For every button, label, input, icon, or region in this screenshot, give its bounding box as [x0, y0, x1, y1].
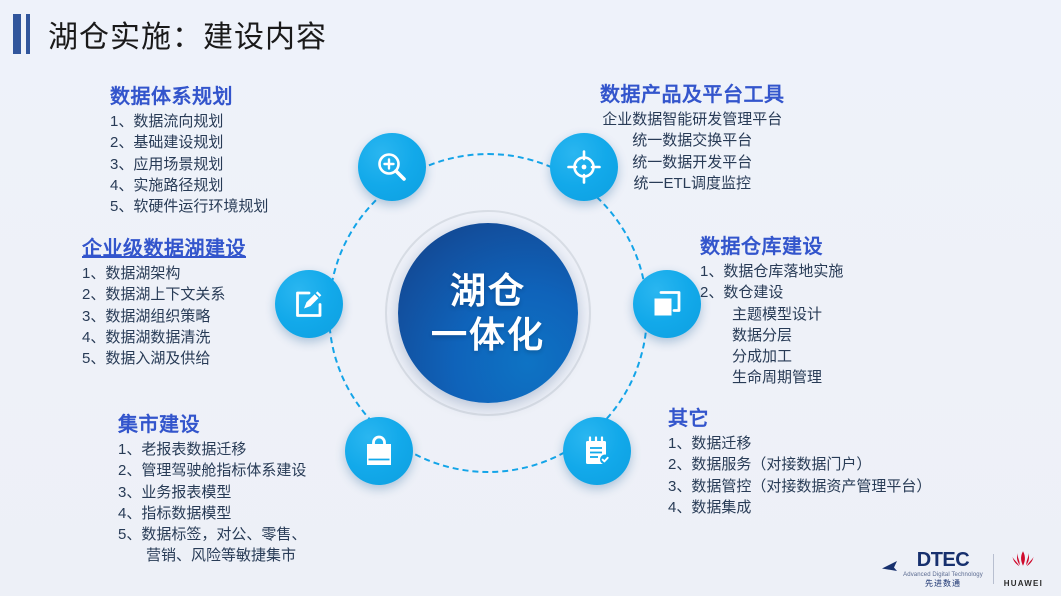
zoom-in-magnifier-icon: [374, 149, 410, 185]
node-data-mart[interactable]: [345, 417, 413, 485]
center-hub-line2: 一体化: [431, 313, 545, 357]
list-item: 统一ETL调度监控: [600, 173, 785, 194]
list-subitem: 主题模型设计: [700, 304, 843, 325]
huawei-flower-icon: [1006, 550, 1040, 577]
list-item: 2、基础建设规划: [110, 132, 268, 153]
footer-logos: DTEC Advanced Digital Technology 先进数通: [880, 550, 1043, 588]
list-item: 3、数据管控（对接数据资产管理平台）: [668, 476, 931, 497]
list-item: 4、实施路径规划: [110, 175, 268, 196]
list-item: 4、指标数据模型: [118, 503, 306, 524]
list-item: 企业数据智能研发管理平台: [600, 109, 785, 130]
dtec-tagline: Advanced Digital Technology: [903, 572, 983, 578]
block-heading: 企业级数据湖建设: [82, 232, 246, 261]
block-enterprise-data-lake: 企业级数据湖建设 1、数据湖架构 2、数据湖上下文关系 3、数据湖组织策略 4、…: [82, 232, 246, 369]
node-data-system-planning[interactable]: [358, 133, 426, 201]
list-item: 3、应用场景规划: [110, 154, 268, 175]
block-data-products-platform: 数据产品及平台工具 企业数据智能研发管理平台 统一数据交换平台 统一数据开发平台…: [600, 78, 785, 194]
block-list: 企业数据智能研发管理平台 统一数据交换平台 统一数据开发平台 统一ETL调度监控: [600, 109, 785, 194]
list-item: 1、数据仓库落地实施: [700, 261, 843, 282]
page-title: 湖仓实施：建设内容: [48, 12, 327, 56]
block-list: 1、数据迁移 2、数据服务（对接数据门户） 3、数据管控（对接数据资产管理平台）…: [668, 433, 931, 518]
dtec-wordmark: DTEC: [917, 550, 969, 570]
shopping-bag-icon: [363, 434, 395, 468]
block-data-system-planning: 数据体系规划 1、数据流向规划 2、基础建设规划 3、应用场景规划 4、实施路径…: [110, 80, 268, 217]
list-item: 4、数据湖数据清洗: [82, 327, 246, 348]
list-item: 统一数据开发平台: [600, 152, 785, 173]
node-data-warehouse[interactable]: [633, 270, 701, 338]
list-item: 2、数据服务（对接数据门户）: [668, 454, 931, 475]
block-heading: 数据产品及平台工具: [600, 78, 785, 107]
block-data-warehouse: 数据仓库建设 1、数据仓库落地实施 2、数仓建设 主题模型设计 数据分层 分成加…: [700, 230, 843, 389]
slide-canvas: 湖仓实施：建设内容 湖仓 一体化: [0, 0, 1061, 596]
title-accent-bars-icon: [13, 14, 30, 54]
block-list: 1、数据流向规划 2、基础建设规划 3、应用场景规划 4、实施路径规划 5、软硬…: [110, 111, 268, 217]
node-enterprise-data-lake[interactable]: [275, 270, 343, 338]
list-item: 4、数据集成: [668, 497, 931, 518]
block-list: 1、数据仓库落地实施 2、数仓建设 主题模型设计 数据分层 分成加工 生命周期管…: [700, 261, 843, 389]
center-hub-line1: 湖仓: [450, 269, 526, 313]
list-item: 3、数据湖组织策略: [82, 306, 246, 327]
list-item: 1、数据流向规划: [110, 111, 268, 132]
list-item: 1、数据湖架构: [82, 263, 246, 284]
block-other: 其它 1、数据迁移 2、数据服务（对接数据门户） 3、数据管控（对接数据资产管理…: [668, 402, 931, 518]
notepad-checklist-icon: [580, 434, 614, 468]
slide-title-row: 湖仓实施：建设内容: [0, 8, 327, 60]
block-heading: 数据体系规划: [110, 80, 268, 109]
list-subitem: 生命周期管理: [700, 367, 843, 388]
list-item: 1、老报表数据迁移: [118, 439, 306, 460]
dtec-arrow-icon: [880, 557, 900, 582]
huawei-logo: HUAWEI: [1004, 550, 1043, 588]
list-item: 5、数据入湖及供给: [82, 348, 246, 369]
node-other[interactable]: [563, 417, 631, 485]
block-heading: 集市建设: [118, 408, 306, 437]
block-data-mart: 集市建设 1、老报表数据迁移 2、管理驾驶舱指标体系建设 3、业务报表模型 4、…: [118, 408, 306, 567]
list-item: 统一数据交换平台: [600, 130, 785, 151]
list-item: 2、管理驾驶舱指标体系建设: [118, 460, 306, 481]
list-subitem: 分成加工: [700, 346, 843, 367]
list-item: 3、业务报表模型: [118, 482, 306, 503]
dtec-chinese-name: 先进数通: [925, 580, 961, 588]
copy-layers-icon: [650, 287, 684, 321]
block-list: 1、老报表数据迁移 2、管理驾驶舱指标体系建设 3、业务报表模型 4、指标数据模…: [118, 439, 306, 567]
list-item: 5、数据标签，对公、零售、: [118, 524, 306, 545]
huawei-wordmark: HUAWEI: [1004, 579, 1043, 588]
crosshair-target-icon: [566, 149, 602, 185]
block-heading: 数据仓库建设: [700, 230, 843, 259]
list-item: 5、软硬件运行环境规划: [110, 196, 268, 217]
center-hub: 湖仓 一体化: [398, 223, 578, 403]
list-item: 2、数据湖上下文关系: [82, 284, 246, 305]
list-item-continuation: 营销、风险等敏捷集市: [118, 545, 306, 566]
list-subitem: 数据分层: [700, 325, 843, 346]
logo-divider: [993, 554, 994, 584]
block-list: 1、数据湖架构 2、数据湖上下文关系 3、数据湖组织策略 4、数据湖数据清洗 5…: [82, 263, 246, 369]
dtec-logo: DTEC Advanced Digital Technology 先进数通: [880, 550, 983, 588]
block-heading: 其它: [668, 402, 931, 431]
list-item: 2、数仓建设: [700, 282, 843, 303]
pencil-edit-square-icon: [292, 287, 326, 321]
list-item: 1、数据迁移: [668, 433, 931, 454]
